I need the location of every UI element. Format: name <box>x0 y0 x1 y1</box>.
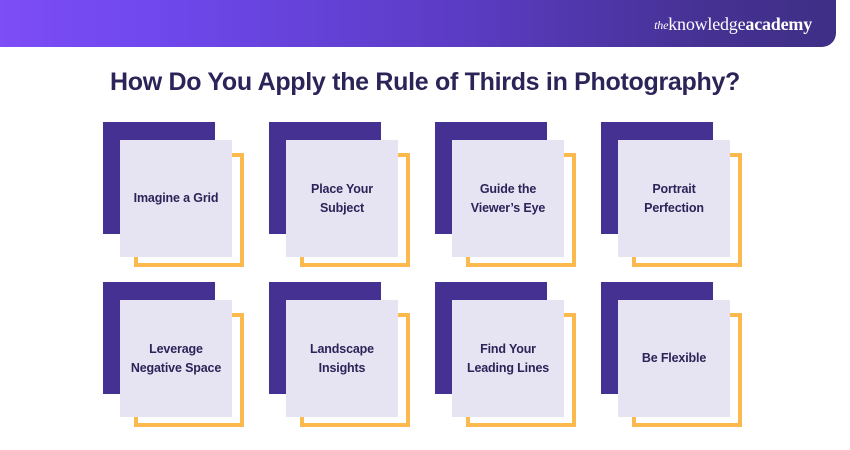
cards-grid: Imagine a Grid Place Your Subject Guide … <box>0 0 850 450</box>
card[interactable]: Landscape Insights <box>269 282 415 432</box>
card-label: Guide the Viewer’s Eye <box>456 180 560 216</box>
card[interactable]: Leverage Negative Space <box>103 282 249 432</box>
card-label: Portrait Perfection <box>622 180 726 216</box>
card[interactable]: Portrait Perfection <box>601 122 747 272</box>
card[interactable]: Imagine a Grid <box>103 122 249 272</box>
card[interactable]: Guide the Viewer’s Eye <box>435 122 581 272</box>
card[interactable]: Be Flexible <box>601 282 747 432</box>
card-front-panel: Landscape Insights <box>286 300 398 417</box>
card[interactable]: Find Your Leading Lines <box>435 282 581 432</box>
card-front-panel: Portrait Perfection <box>618 140 730 257</box>
card-label: Place Your Subject <box>290 180 394 216</box>
card[interactable]: Place Your Subject <box>269 122 415 272</box>
card-label: Be Flexible <box>642 349 706 367</box>
card-label: Landscape Insights <box>290 340 394 376</box>
card-front-panel: Imagine a Grid <box>120 140 232 257</box>
card-front-panel: Place Your Subject <box>286 140 398 257</box>
card-front-panel: Leverage Negative Space <box>120 300 232 417</box>
card-label: Find Your Leading Lines <box>456 340 560 376</box>
card-front-panel: Guide the Viewer’s Eye <box>452 140 564 257</box>
card-front-panel: Find Your Leading Lines <box>452 300 564 417</box>
card-label: Leverage Negative Space <box>124 340 228 376</box>
card-front-panel: Be Flexible <box>618 300 730 417</box>
card-label: Imagine a Grid <box>134 189 219 207</box>
